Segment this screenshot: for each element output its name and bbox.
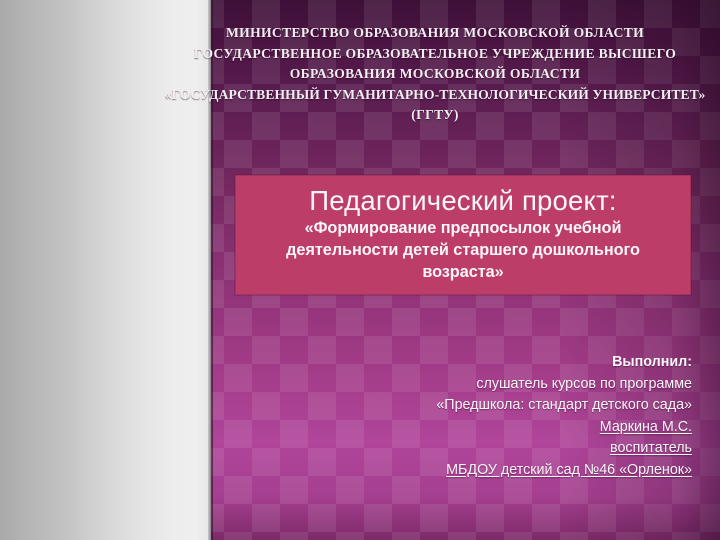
institution-header: МИНИСТЕРСТВО ОБРАЗОВАНИЯ МОСКОВСКОЙ ОБЛА… (150, 23, 720, 126)
institution-header-abbreviation: (ГГТУ) (150, 105, 720, 126)
author-course-line: слушатель курсов по программе (272, 374, 692, 396)
project-subtitle-line-2: деятельности детей старшего дошкольного (246, 239, 680, 261)
author-position: воспитатель (272, 438, 692, 460)
author-label: Выполнил: (272, 352, 692, 374)
institution-header-line-2: ГОСУДАРСТВЕННОЕ ОБРАЗОВАТЕЛЬНОЕ УЧРЕЖДЕН… (150, 44, 720, 65)
author-organization: МБДОУ детский сад №46 «Орленок» (272, 460, 692, 482)
project-title: Педагогический проект: (244, 185, 682, 216)
author-name: Маркина М.С. (272, 417, 692, 439)
author-block: Выполнил: слушатель курсов по программе … (272, 352, 692, 481)
project-subtitle-line-1: «Формирование предпосылок учебной (246, 217, 680, 239)
institution-header-line-1: МИНИСТЕРСТВО ОБРАЗОВАНИЯ МОСКОВСКОЙ ОБЛА… (150, 23, 720, 44)
project-title-box: Педагогический проект: «Формирование пре… (235, 175, 691, 295)
project-subtitle-line-3: возраста» (246, 261, 680, 283)
institution-header-line-3: ОБРАЗОВАНИЯ МОСКОВСКОЙ ОБЛАСТИ (150, 64, 720, 85)
presentation-slide: МИНИСТЕРСТВО ОБРАЗОВАНИЯ МОСКОВСКОЙ ОБЛА… (0, 0, 720, 540)
institution-header-line-4: «ГОСУДАРСТВЕННЫЙ ГУМАНИТАРНО-ТЕХНОЛОГИЧЕ… (150, 85, 720, 106)
project-subtitle: «Формирование предпосылок учебной деятел… (246, 217, 680, 283)
author-program-name: «Предшкола: стандарт детского сада» (272, 395, 692, 417)
